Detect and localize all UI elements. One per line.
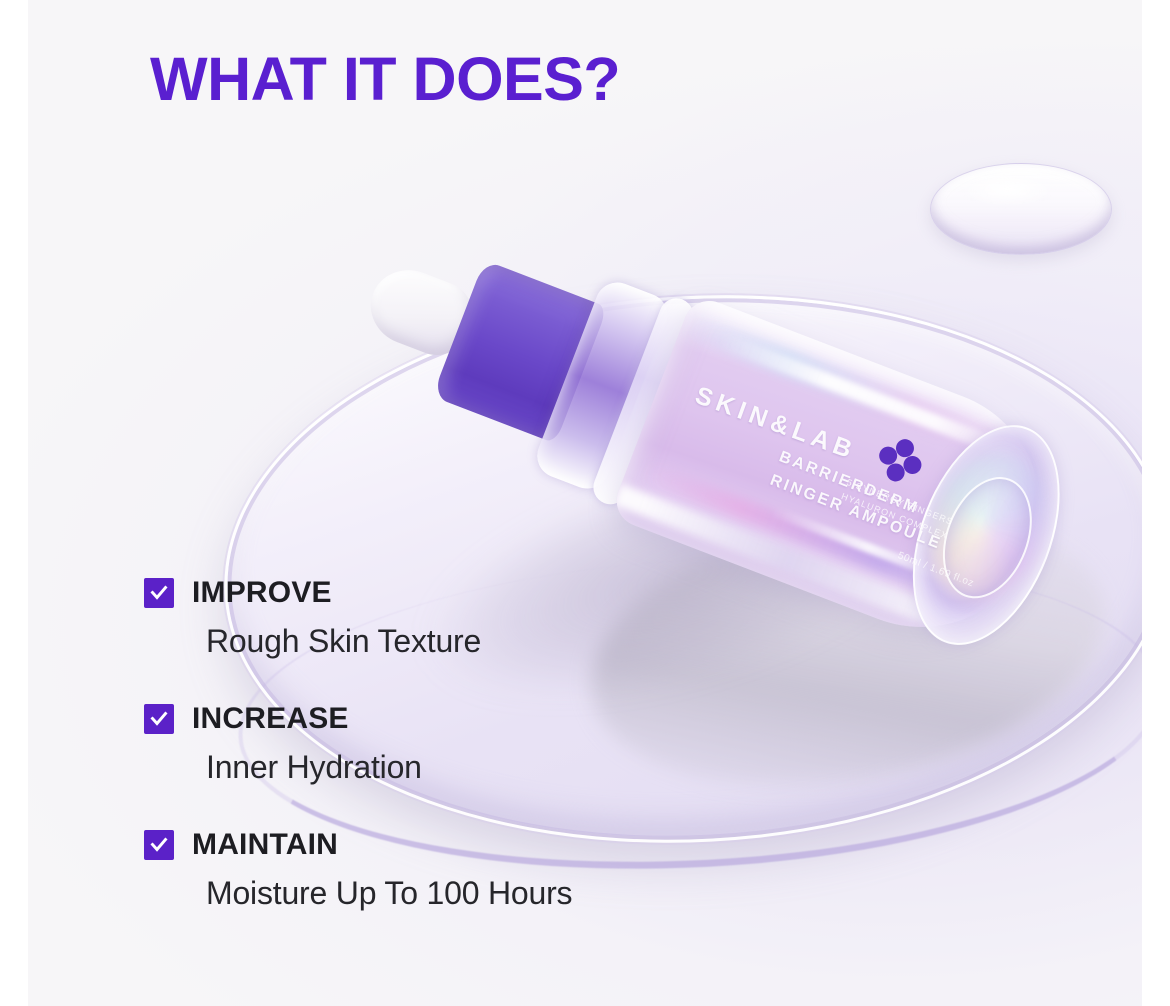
benefit-item: IMPROVE Rough Skin Texture <box>144 578 784 660</box>
benefit-title-row: INCREASE <box>144 704 784 734</box>
benefit-item: INCREASE Inner Hydration <box>144 704 784 786</box>
benefit-description: Rough Skin Texture <box>206 623 784 660</box>
checkmark-icon <box>144 578 174 608</box>
benefit-title: IMPROVE <box>192 578 332 608</box>
checkmark-icon <box>144 704 174 734</box>
droplet-highlight <box>958 176 1068 210</box>
benefit-title-row: MAINTAIN <box>144 830 784 860</box>
benefits-list: IMPROVE Rough Skin Texture INCREASE Inne… <box>144 578 784 911</box>
benefit-item: MAINTAIN Moisture Up To 100 Hours <box>144 830 784 912</box>
content-canvas: WHAT IT DOES? <box>28 0 1142 1006</box>
benefit-title: INCREASE <box>192 704 349 734</box>
benefit-description: Moisture Up To 100 Hours <box>206 875 784 912</box>
benefit-title-row: IMPROVE <box>144 578 784 608</box>
page-title: WHAT IT DOES? <box>150 47 620 111</box>
product-benefits-page: WHAT IT DOES? <box>0 0 1170 1006</box>
benefit-title: MAINTAIN <box>192 830 338 860</box>
benefit-description: Inner Hydration <box>206 749 784 786</box>
checkmark-icon <box>144 830 174 860</box>
